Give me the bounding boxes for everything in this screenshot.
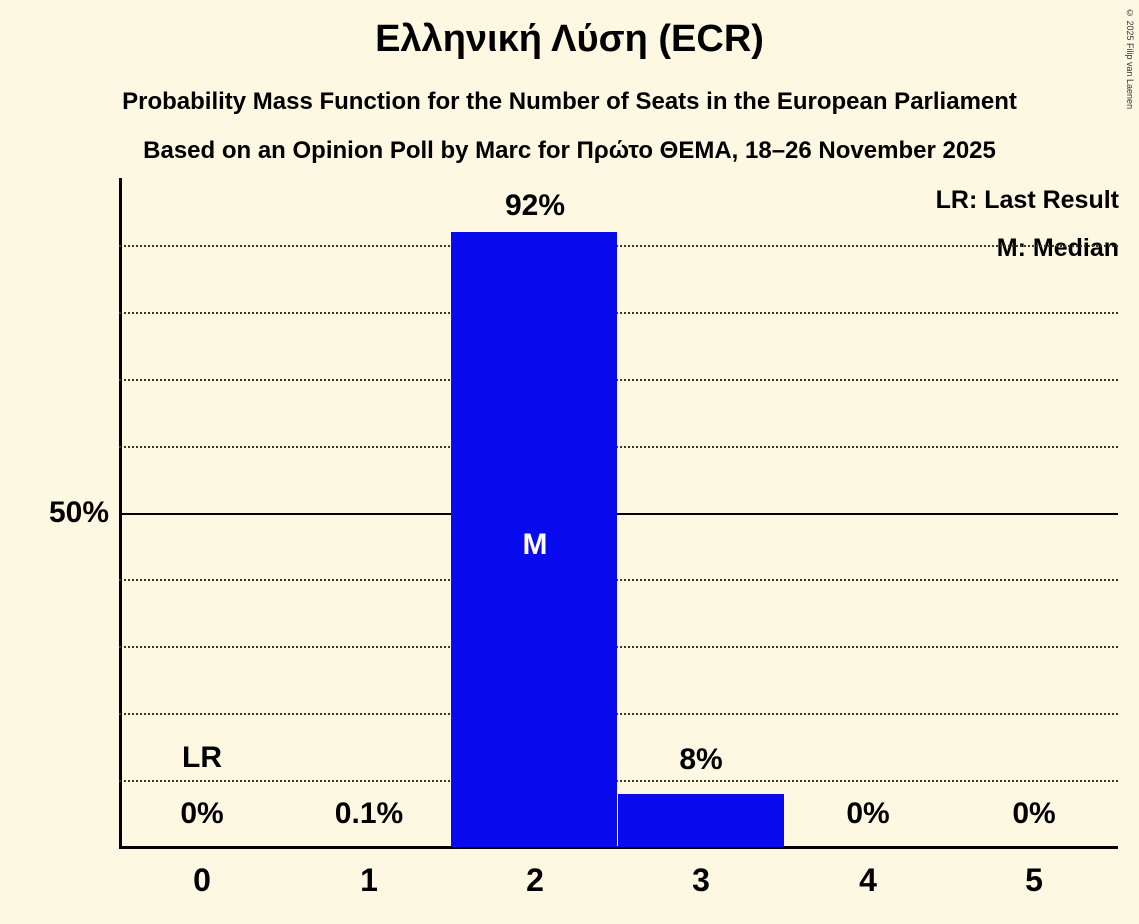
gridline-50: [119, 513, 1118, 515]
gridline-90: [119, 245, 1118, 247]
gridline-40: [119, 579, 1118, 581]
gridline-70: [119, 379, 1118, 381]
chart-subtitle: Probability Mass Function for the Number…: [0, 88, 1139, 116]
gridline-30: [119, 646, 1118, 648]
median-marker: M: [452, 528, 618, 562]
x-tick-0: 0: [119, 862, 285, 899]
x-tick-2: 2: [452, 862, 618, 899]
bar-label-0: 0%: [119, 797, 285, 831]
chart-container: © 2025 Filip van Laenen Ελληνική Λύση (E…: [0, 0, 1139, 924]
chart-source-subtitle: Based on an Opinion Poll by Marc for Πρώ…: [0, 137, 1139, 165]
gridline-80: [119, 312, 1118, 314]
last-result-marker: LR: [119, 741, 285, 775]
bar-3: [618, 794, 784, 848]
chart-title: Ελληνική Λύση (ECR): [0, 18, 1139, 61]
bar-label-5: 0%: [951, 797, 1117, 831]
bar-label-3: 8%: [618, 743, 784, 777]
bar-label-2: 92%: [452, 189, 618, 223]
gridline-10: [119, 780, 1118, 782]
x-tick-4: 4: [785, 862, 951, 899]
y-axis-tick-label-50: 50%: [0, 496, 109, 530]
gridline-60: [119, 446, 1118, 448]
x-tick-5: 5: [951, 862, 1117, 899]
x-tick-3: 3: [618, 862, 784, 899]
gridline-20: [119, 713, 1118, 715]
bar-label-4: 0%: [785, 797, 951, 831]
bar-label-1: 0.1%: [286, 797, 452, 831]
x-tick-1: 1: [286, 862, 452, 899]
